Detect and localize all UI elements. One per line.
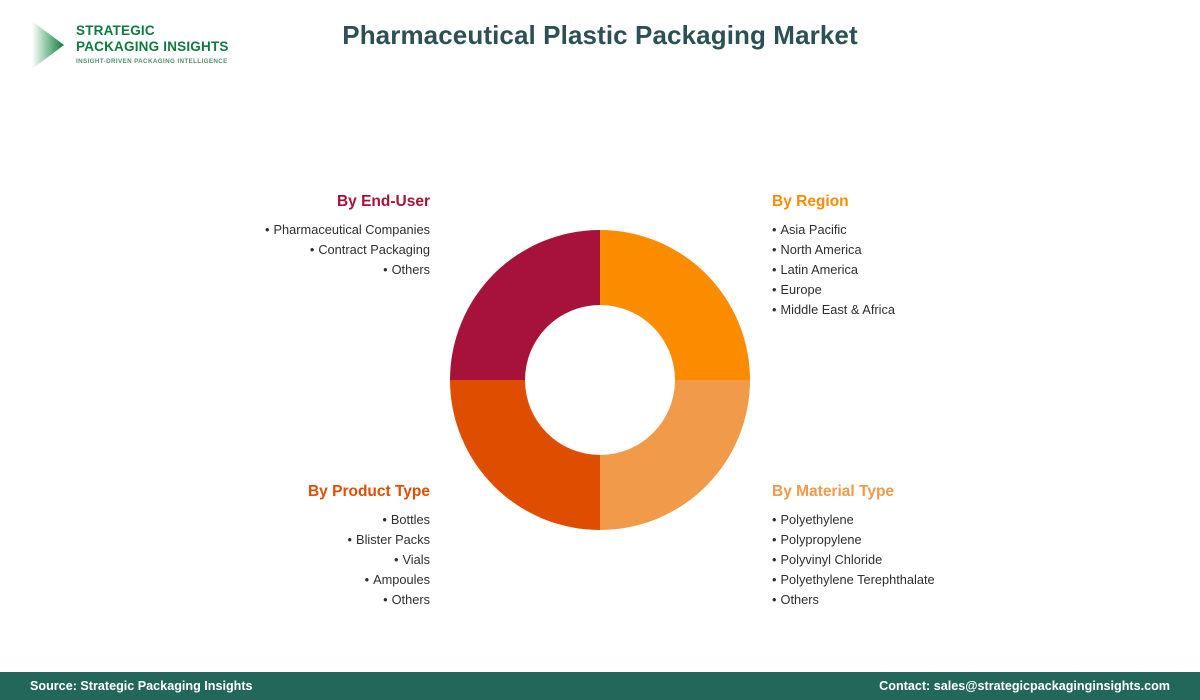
list-item: •North America: [772, 240, 1052, 260]
bullet-icon: •: [383, 590, 387, 610]
list-item: •Contract Packaging: [150, 240, 430, 260]
segment-list-region: •Asia Pacific•North America•Latin Americ…: [772, 220, 1052, 320]
bullet-icon: •: [265, 220, 269, 240]
footer-source: Source: Strategic Packaging Insights: [30, 679, 253, 693]
bullet-icon: •: [772, 280, 776, 300]
bullet-icon: •: [772, 260, 776, 280]
list-item: •Latin America: [772, 260, 1052, 280]
list-item: •Middle East & Africa: [772, 300, 1052, 320]
list-item: •Blister Packs: [150, 530, 430, 550]
segment-title-region: By Region: [772, 193, 1052, 211]
list-item: •Others: [150, 590, 430, 610]
list-item: •Polyethylene: [772, 510, 1052, 530]
bullet-icon: •: [382, 510, 386, 530]
donut-center-hole: [525, 305, 675, 455]
segment-block-end-user: By End-User •Pharmaceutical Companies•Co…: [150, 193, 430, 280]
segment-block-region: By Region •Asia Pacific•North America•La…: [772, 193, 1052, 320]
footer-contact: Contact: sales@strategicpackaginginsight…: [879, 679, 1170, 693]
segment-title-end-user: By End-User: [150, 193, 430, 211]
donut-chart: [450, 230, 750, 530]
bullet-icon: •: [772, 220, 776, 240]
list-item: •Bottles: [150, 510, 430, 530]
segment-block-material-type: By Material Type •Polyethylene•Polypropy…: [772, 483, 1052, 610]
bullet-icon: •: [772, 240, 776, 260]
list-item: •Polyvinyl Chloride: [772, 550, 1052, 570]
list-item: •Ampoules: [150, 570, 430, 590]
footer-bar: Source: Strategic Packaging Insights Con…: [0, 672, 1200, 700]
bullet-icon: •: [772, 590, 776, 610]
list-item: •Asia Pacific: [772, 220, 1052, 240]
bullet-icon: •: [772, 510, 776, 530]
bullet-icon: •: [772, 300, 776, 320]
list-item: •Pharmaceutical Companies: [150, 220, 430, 240]
bullet-icon: •: [365, 570, 369, 590]
segment-list-end-user: •Pharmaceutical Companies•Contract Packa…: [150, 220, 430, 280]
page-title: Pharmaceutical Plastic Packaging Market: [0, 20, 1200, 51]
list-item: •Europe: [772, 280, 1052, 300]
bullet-icon: •: [772, 570, 776, 590]
segment-title-product-type: By Product Type: [150, 483, 430, 501]
list-item: •Polypropylene: [772, 530, 1052, 550]
segment-list-material-type: •Polyethylene•Polypropylene•Polyvinyl Ch…: [772, 510, 1052, 610]
list-item: •Others: [772, 590, 1052, 610]
logo-tagline: INSIGHT-DRIVEN PACKAGING INTELLIGENCE: [76, 59, 229, 65]
bullet-icon: •: [394, 550, 398, 570]
bullet-icon: •: [383, 260, 387, 280]
list-item: •Vials: [150, 550, 430, 570]
bullet-icon: •: [310, 240, 314, 260]
segment-title-material-type: By Material Type: [772, 483, 1052, 501]
list-item: •Polyethylene Terephthalate: [772, 570, 1052, 590]
segment-block-product-type: By Product Type •Bottles•Blister Packs•V…: [150, 483, 430, 610]
list-item: •Others: [150, 260, 430, 280]
bullet-icon: •: [772, 550, 776, 570]
segment-list-product-type: •Bottles•Blister Packs•Vials•Ampoules•Ot…: [150, 510, 430, 610]
bullet-icon: •: [348, 530, 352, 550]
bullet-icon: •: [772, 530, 776, 550]
